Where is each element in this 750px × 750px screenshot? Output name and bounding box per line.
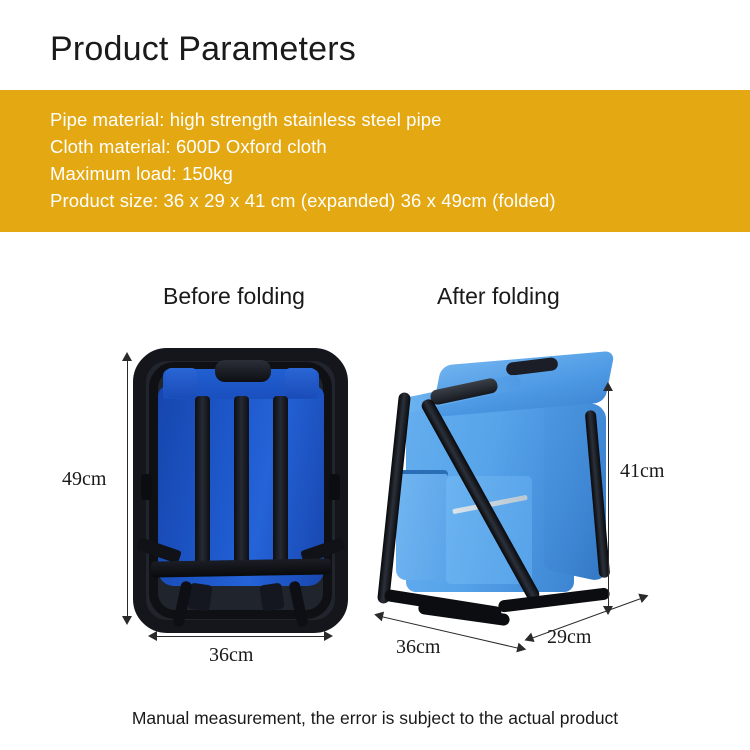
dim-line-41cm — [608, 390, 609, 608]
dim-arrow-41cm-top — [603, 382, 613, 391]
shoulder-strap-right — [273, 396, 288, 574]
side-mesh-pocket — [396, 474, 448, 580]
product-image-before-folding — [133, 348, 348, 633]
backpack-tab-left — [166, 368, 197, 398]
spec-line-cloth-material: Cloth material: 600D Oxford cloth — [50, 133, 750, 160]
dim-arrow-49cm-top — [122, 352, 132, 361]
shoulder-strap-center — [234, 396, 249, 574]
spec-line-maximum-load: Maximum load: 150kg — [50, 160, 750, 187]
buckle-right — [259, 583, 284, 612]
dim-arrow-49cm-bottom — [122, 616, 132, 625]
dim-line-36cm-left — [156, 636, 326, 637]
strap-slider-left — [141, 474, 152, 500]
footer-disclaimer: Manual measurement, the error is subject… — [0, 708, 750, 729]
dim-arrow-36cm-left-start — [148, 631, 157, 641]
dim-line-49cm — [127, 360, 128, 618]
heading-before-folding: Before folding — [163, 283, 305, 310]
page-title: Product Parameters — [50, 30, 356, 69]
dim-label-36cm-right: 36cm — [396, 636, 440, 659]
spec-line-pipe-material: Pipe material: high strength stainless s… — [50, 106, 750, 133]
dim-label-29cm: 29cm — [547, 626, 591, 649]
dim-label-36cm-left: 36cm — [209, 644, 253, 667]
carry-handle — [215, 360, 271, 382]
spec-banner: Pipe material: high strength stainless s… — [0, 90, 750, 232]
dim-label-49cm: 49cm — [62, 468, 106, 491]
dim-label-41cm: 41cm — [620, 460, 664, 483]
spec-line-product-size: Product size: 36 x 29 x 41 cm (expanded)… — [50, 187, 750, 214]
product-image-after-folding — [378, 358, 623, 630]
lower-webbing — [151, 558, 331, 577]
backpack-tab-right — [285, 368, 316, 398]
shoulder-strap-left — [195, 396, 210, 574]
dim-arrow-29cm-end — [638, 591, 650, 603]
product-figures-stage: 49cm 36cm 41cm 36cm 29cm — [0, 320, 750, 680]
heading-after-folding: After folding — [437, 283, 560, 310]
strap-slider-right — [329, 474, 340, 500]
dim-arrow-36cm-left-end — [324, 631, 333, 641]
dim-arrow-29cm-start — [523, 633, 535, 645]
